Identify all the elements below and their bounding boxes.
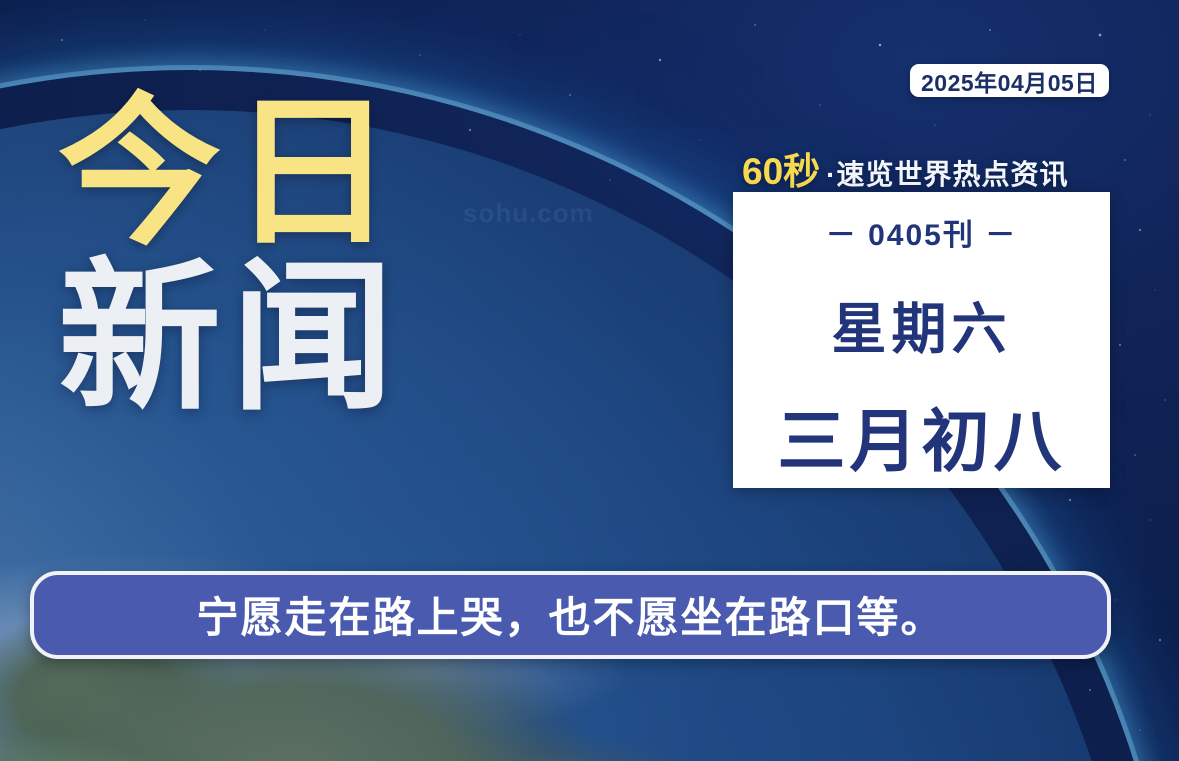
- tagline-highlight: 60秒: [742, 141, 820, 195]
- date-badge-label: 2025年04月05日: [921, 64, 1098, 98]
- tagline-rest: ·速览世界热点资讯: [826, 153, 1068, 193]
- quote-bar: 宁愿走在路上哭，也不愿坐在路口等。: [30, 571, 1111, 659]
- issue-number: － 0405刊 －: [826, 210, 1017, 254]
- poster-title: 今日 新闻: [58, 92, 488, 419]
- title-line-news: 新闻: [58, 257, 488, 418]
- weekday-label: 星期六: [831, 284, 1011, 364]
- tagline: 60秒 ·速览世界热点资讯: [742, 141, 1068, 195]
- lunar-date-label: 三月初八: [777, 386, 1065, 485]
- title-line-today: 今日: [58, 92, 488, 253]
- news-poster: sohu.com 今日 新闻 2025年04月05日 60秒 ·速览世界热点资讯…: [0, 0, 1179, 761]
- info-card: － 0405刊 － 星期六 三月初八: [733, 192, 1110, 488]
- date-badge: 2025年04月05日: [910, 64, 1109, 97]
- quote-text: 宁愿走在路上哭，也不愿坐在路口等。: [196, 584, 944, 645]
